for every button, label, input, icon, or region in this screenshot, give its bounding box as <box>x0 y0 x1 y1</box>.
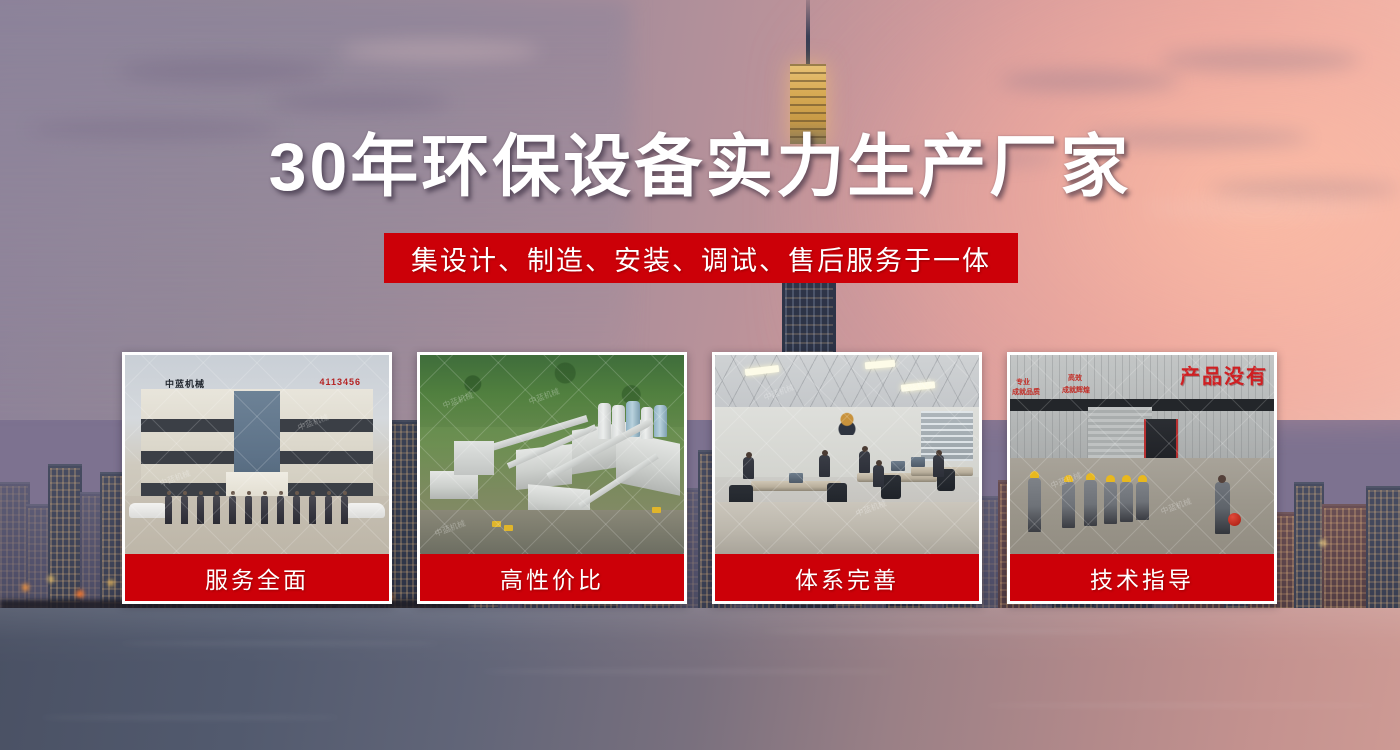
feature-card-guidance[interactable]: 产品没有 专业 成就品质 高效 成就辉煌 中蓝机械 <box>1007 352 1277 604</box>
feature-card-system[interactable]: 中蓝机械 中蓝机械 中蓝机械 体系完善 <box>712 352 982 604</box>
river-water <box>0 608 1400 750</box>
cloud <box>1160 48 1360 72</box>
card-caption-bar: 高性价比 <box>420 554 684 601</box>
cloud <box>118 58 328 84</box>
card-photo-workers-briefing: 产品没有 专业 成就品质 高效 成就辉煌 中蓝机械 <box>1010 355 1274 554</box>
card-photo-headquarters: 中蓝机械 4113456 中蓝机械 中蓝机械 <box>125 355 389 554</box>
factory-slogan-left: 专业 <box>1016 379 1030 388</box>
water-shine <box>0 608 1400 665</box>
card-caption-bar: 服务全面 <box>125 554 389 601</box>
feature-cards: 中蓝机械 4113456 中蓝机械 中蓝机械 <box>122 352 1277 604</box>
card-caption-label: 体系完善 <box>795 561 899 595</box>
factory-slogan-mid-sub: 成就辉煌 <box>1062 387 1090 396</box>
feature-card-service[interactable]: 中蓝机械 4113456 中蓝机械 中蓝机械 <box>122 352 392 604</box>
subtitle-banner: 集设计、制造、安装、调试、售后服务于一体 <box>384 233 1018 283</box>
page-title: 30年环保设备实力生产厂家 <box>0 133 1400 201</box>
building-sign-text: 中蓝机械 <box>165 377 205 390</box>
card-caption-bar: 体系完善 <box>715 554 979 601</box>
factory-slogan-left-sub: 成就品质 <box>1012 389 1040 398</box>
cloud <box>1000 70 1180 92</box>
factory-slogan-main: 产品没有 <box>1180 360 1268 389</box>
factory-slogan-mid: 高效 <box>1068 375 1082 384</box>
cloud <box>270 92 450 112</box>
subtitle-text: 集设计、制造、安装、调试、售后服务于一体 <box>411 239 991 278</box>
tower-spire <box>806 0 810 66</box>
card-photo-office-interior: 中蓝机械 中蓝机械 中蓝机械 <box>715 355 979 554</box>
card-caption-label: 服务全面 <box>205 561 309 595</box>
card-caption-bar: 技术指导 <box>1010 554 1274 601</box>
card-photo-plant-aerial: 中蓝机械 中蓝机械 中蓝机械 <box>420 355 684 554</box>
feature-card-value[interactable]: 中蓝机械 中蓝机械 中蓝机械 高性价比 <box>417 352 687 604</box>
card-caption-label: 高性价比 <box>500 561 604 595</box>
card-caption-label: 技术指导 <box>1090 561 1194 595</box>
promo-banner: 30年环保设备实力生产厂家 集设计、制造、安装、调试、售后服务于一体 中蓝机械 … <box>0 0 1400 750</box>
cloud <box>340 40 540 62</box>
building-phone-text: 4113456 <box>319 377 361 387</box>
